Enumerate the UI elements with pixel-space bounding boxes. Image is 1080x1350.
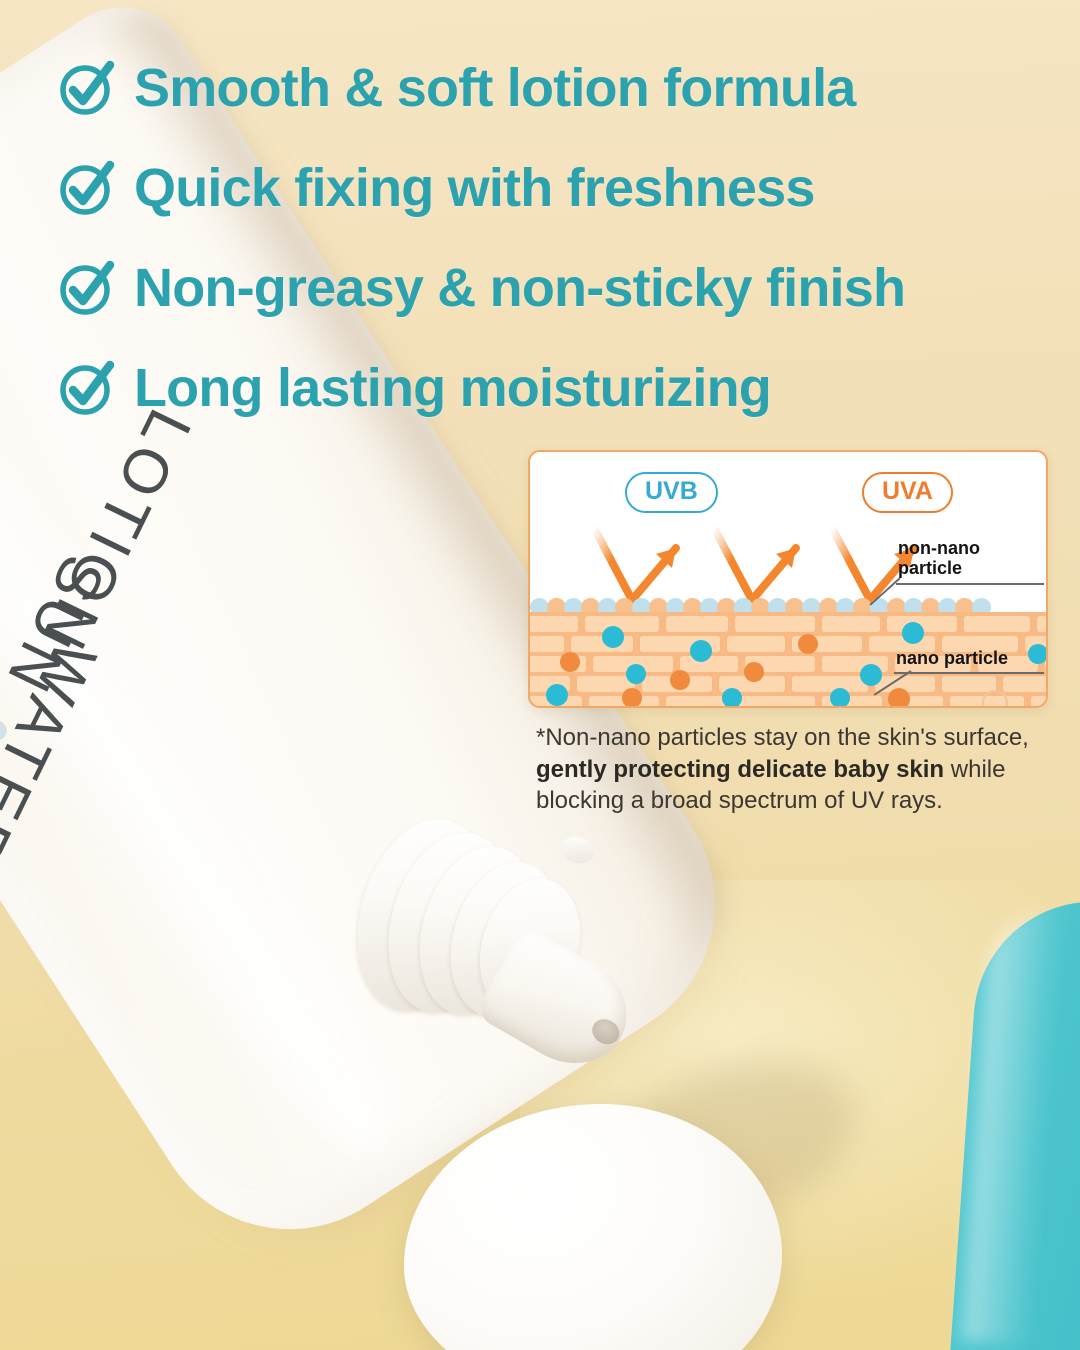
nano-particle-dot <box>722 688 742 708</box>
benefit-label: Non-greasy & non-sticky finish <box>134 261 905 315</box>
nano-particle-dot <box>798 634 818 654</box>
uv-protection-diagram: UVB UVA <box>528 450 1048 708</box>
nano-particle-dot <box>670 670 690 690</box>
check-circle-icon <box>58 159 116 217</box>
nano-particle-dot <box>982 690 1008 708</box>
nano-particle-dot <box>888 688 910 708</box>
nano-particle-dot <box>902 622 924 644</box>
product-marketing-image: WATERFUL SUN LOTION Smooth & soft lotion… <box>0 0 1080 1350</box>
nano-particle-dot <box>560 652 580 672</box>
nano-particle-dot <box>830 688 850 708</box>
uvb-badge: UVB <box>625 472 718 513</box>
brick <box>530 636 564 652</box>
non-nano-underline <box>896 583 1044 585</box>
diagram-caption: *Non-nano particles stay on the skin's s… <box>536 722 1036 817</box>
brick <box>739 696 815 708</box>
brick <box>792 676 868 692</box>
brick <box>735 616 815 632</box>
caption-part1: *Non-nano particles stay on the skin's s… <box>536 724 1029 751</box>
list-item: Smooth & soft lotion formula <box>58 46 1058 130</box>
nano-particle-dot <box>744 662 764 682</box>
brick <box>666 616 728 632</box>
list-item: Quick fixing with freshness <box>58 146 1058 230</box>
nano-particle-label: nano particle <box>896 648 1008 668</box>
brick <box>585 616 659 632</box>
nano-particle-dot <box>546 684 568 706</box>
benefit-list: Smooth & soft lotion formula Quick fixin… <box>58 46 1058 446</box>
check-circle-icon <box>58 59 116 117</box>
nano-particle-dot <box>860 664 882 686</box>
list-item: Long lasting moisturizing <box>58 346 1058 430</box>
check-circle-icon <box>58 359 116 417</box>
nano-particle-dot <box>626 664 646 684</box>
brick-row <box>530 676 1046 692</box>
nano-particle-dot <box>602 626 624 648</box>
non-nano-line1: non-nano <box>898 538 980 558</box>
brick <box>1037 616 1046 632</box>
check-circle-icon <box>58 259 116 317</box>
nano-particle-dot <box>622 688 642 708</box>
brick <box>1003 676 1046 692</box>
brick <box>964 616 1030 632</box>
non-nano-particle-label: non-nano particle <box>898 538 980 578</box>
brick-row <box>530 696 1046 708</box>
brick <box>822 616 880 632</box>
brick <box>530 616 578 632</box>
benefit-label: Smooth & soft lotion formula <box>134 61 856 115</box>
non-nano-line2: particle <box>898 558 962 578</box>
nano-underline <box>894 672 1044 674</box>
list-item: Non-greasy & non-sticky finish <box>58 246 1058 330</box>
brick <box>942 676 996 692</box>
caption-bold: gently protecting delicate baby skin <box>536 756 944 783</box>
uva-badge: UVA <box>862 472 953 513</box>
benefit-label: Long lasting moisturizing <box>134 361 771 415</box>
benefit-label: Quick fixing with freshness <box>134 161 815 215</box>
nano-particle-dot <box>1028 644 1046 664</box>
nano-particle-dot <box>690 640 712 662</box>
brick <box>727 636 785 652</box>
